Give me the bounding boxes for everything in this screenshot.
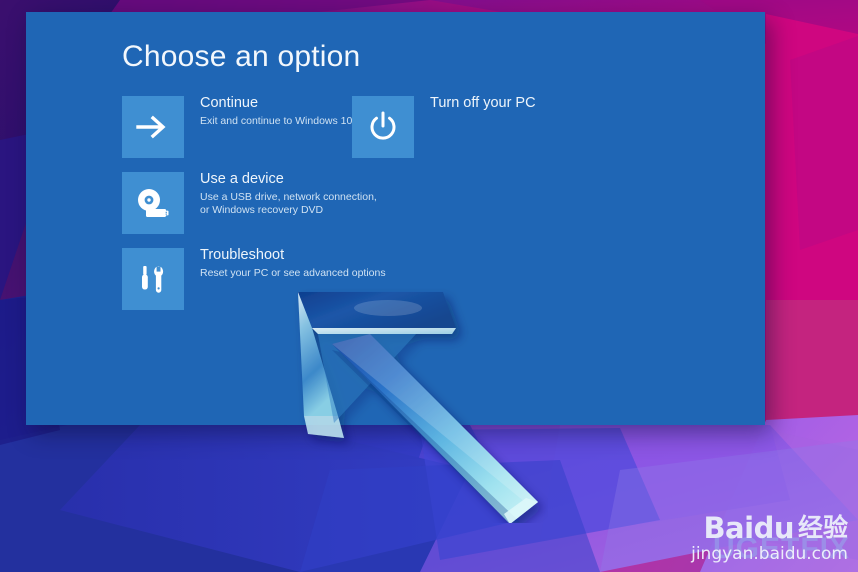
option-title: Troubleshoot xyxy=(200,246,386,264)
baidu-url: jingyan.baidu.com xyxy=(691,544,848,564)
baidu-wordmark: Baidu xyxy=(703,513,794,543)
option-subtitle-line: Reset your PC or see advanced options xyxy=(200,267,386,280)
option-subtitle-line: or Windows recovery DVD xyxy=(200,204,377,217)
giant-arrow-cursor xyxy=(288,288,548,523)
option-title: Use a device xyxy=(200,170,377,188)
use-a-device-tile[interactable] xyxy=(122,172,184,234)
continue-tile[interactable] xyxy=(122,96,184,158)
screenshot-stage: Choose an option Continue Exit and conti… xyxy=(0,0,858,572)
page-title: Choose an option xyxy=(122,40,360,74)
option-subtitle-line: Exit and continue to Windows 10 xyxy=(200,115,352,128)
screwdriver-wrench-icon xyxy=(137,262,169,296)
option-title: Turn off your PC xyxy=(430,94,536,112)
option-continue[interactable]: Continue Exit and continue to Windows 10 xyxy=(122,96,352,158)
arrow-right-icon xyxy=(136,115,170,139)
baidu-logo-row: Baidu 经验 xyxy=(691,513,848,543)
disc-usb-icon xyxy=(134,186,172,220)
option-subtitle-line: Use a USB drive, network connection, xyxy=(200,191,377,204)
troubleshoot-tile[interactable] xyxy=(122,248,184,310)
power-icon xyxy=(366,110,400,144)
option-subtitle: Reset your PC or see advanced options xyxy=(200,267,386,280)
baidu-jingyan-watermark: Baidu 经验 jingyan.baidu.com xyxy=(691,513,848,564)
option-subtitle: Use a USB drive, network connection, or … xyxy=(200,191,377,217)
option-use-a-device[interactable]: Use a device Use a USB drive, network co… xyxy=(122,172,382,234)
option-title: Continue xyxy=(200,94,352,112)
option-turn-off-your-pc[interactable]: Turn off your PC xyxy=(352,96,572,158)
jingyan-wordmark-cn: 经验 xyxy=(798,513,848,543)
option-subtitle: Exit and continue to Windows 10 xyxy=(200,115,352,128)
turn-off-tile[interactable] xyxy=(352,96,414,158)
